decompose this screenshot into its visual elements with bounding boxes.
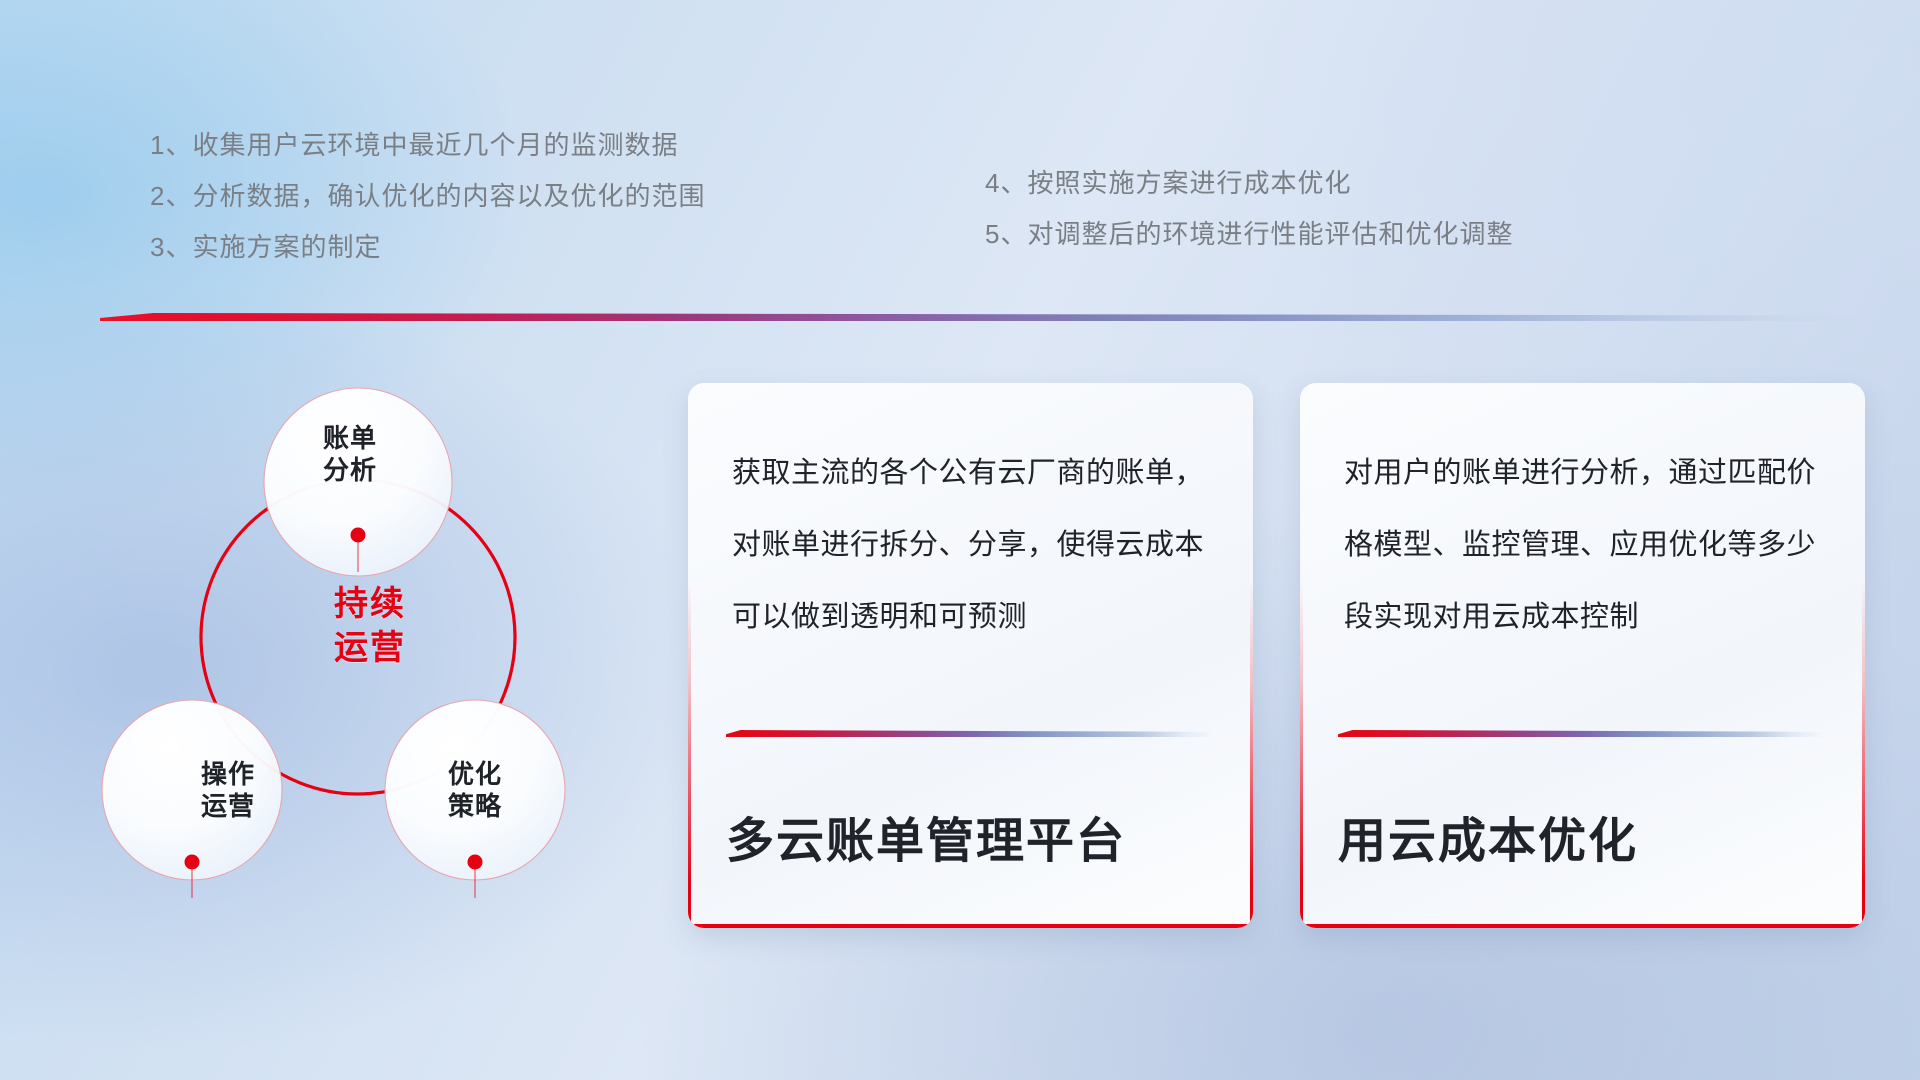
- list-item: 1、收集用户云环境中最近几个月的监测数据: [150, 120, 705, 171]
- steps-list-left: 1、收集用户云环境中最近几个月的监测数据 2、分析数据，确认优化的内容以及优化的…: [150, 120, 705, 273]
- bubble-left[interactable]: [102, 700, 282, 880]
- card-divider-line: [726, 730, 1212, 737]
- card-edge-left: [1300, 383, 1303, 928]
- card-edge-bottom: [688, 924, 1253, 928]
- cycle-center-label: 持续 运营: [270, 582, 470, 670]
- node-dot-right: [468, 855, 483, 870]
- card-description: 对用户的账单进行分析，通过匹配价格模型、监控管理、应用优化等多少段实现对用云成本…: [1344, 437, 1827, 653]
- slide-canvas: 1、收集用户云环境中最近几个月的监测数据 2、分析数据，确认优化的内容以及优化的…: [0, 0, 1920, 1080]
- card-title: 用云成本优化: [1338, 801, 1638, 871]
- card-edge-right: [1862, 383, 1865, 928]
- feature-card-multicloud-billing[interactable]: 获取主流的各个公有云厂商的账单，对账单进行拆分、分享，使得云成本可以做到透明和可…: [688, 383, 1253, 928]
- card-title: 多云账单管理平台: [726, 801, 1126, 871]
- card-divider-line: [1338, 730, 1824, 737]
- steps-list-right: 4、按照实施方案进行成本优化 5、对调整后的环境进行性能评估和优化调整: [985, 158, 1513, 260]
- header-divider-line: [100, 313, 1875, 321]
- feature-card-cloud-cost-optimization[interactable]: 对用户的账单进行分析，通过匹配价格模型、监控管理、应用优化等多少段实现对用云成本…: [1300, 383, 1865, 928]
- node-dot-left: [185, 855, 200, 870]
- list-item: 4、按照实施方案进行成本优化: [985, 158, 1513, 209]
- card-edge-right: [1250, 383, 1253, 928]
- list-item: 5、对调整后的环境进行性能评估和优化调整: [985, 209, 1513, 260]
- card-description: 获取主流的各个公有云厂商的账单，对账单进行拆分、分享，使得云成本可以做到透明和可…: [732, 437, 1215, 653]
- node-dot-top: [351, 528, 366, 543]
- card-edge-bottom: [1300, 924, 1865, 928]
- continuous-operation-diagram: 账单 分析 操作 运营 优化 策略 持续 运营: [90, 350, 650, 950]
- list-item: 2、分析数据，确认优化的内容以及优化的范围: [150, 171, 705, 222]
- card-edge-left: [688, 383, 691, 928]
- bubble-right[interactable]: [385, 700, 565, 880]
- list-item: 3、实施方案的制定: [150, 222, 705, 273]
